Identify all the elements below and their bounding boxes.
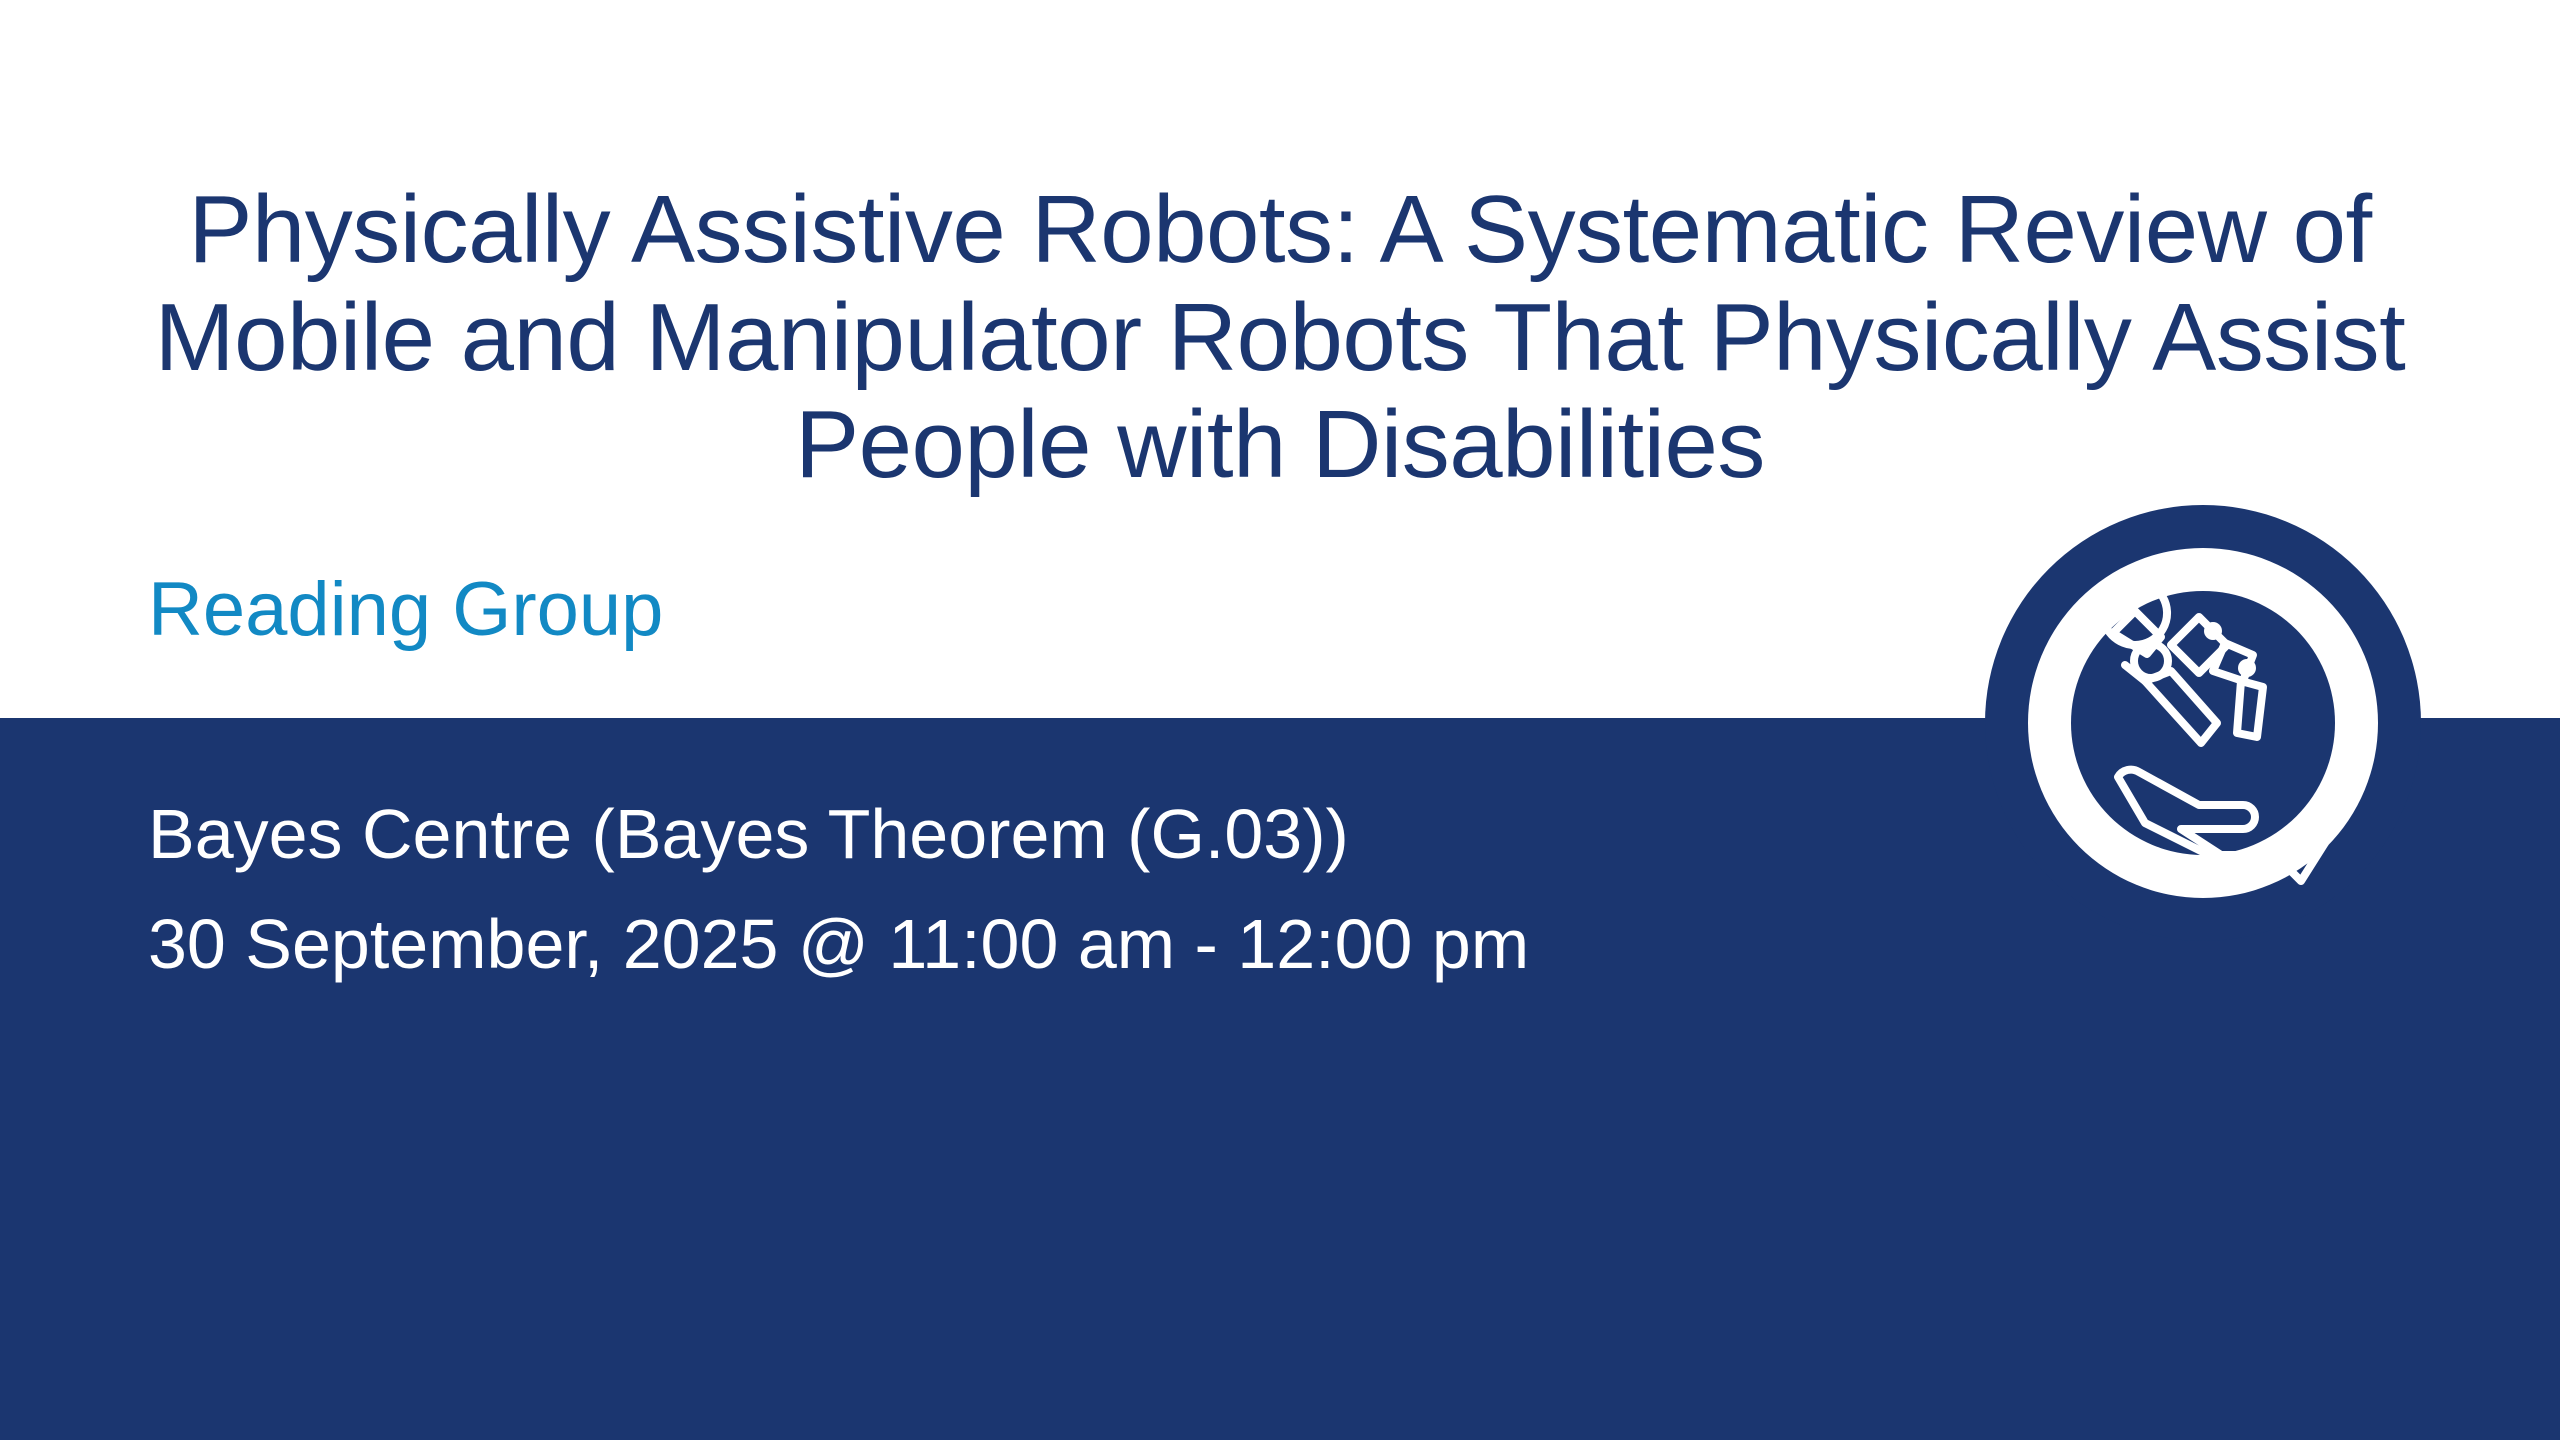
event-details: Bayes Centre (Bayes Theorem (G.03)) 30 S… — [148, 790, 1848, 988]
event-datetime: 30 September, 2025 @ 11:00 am - 12:00 pm — [148, 900, 1848, 988]
robot-arm-and-hand-logo — [1985, 505, 2421, 941]
event-banner: Physically Assistive Robots: A Systemati… — [0, 0, 2560, 1440]
title-block: Physically Assistive Robots: A Systemati… — [0, 176, 2560, 499]
event-category-label: Reading Group — [148, 568, 663, 652]
event-venue: Bayes Centre (Bayes Theorem (G.03)) — [148, 790, 1848, 878]
page-title: Physically Assistive Robots: A Systemati… — [0, 176, 2560, 499]
